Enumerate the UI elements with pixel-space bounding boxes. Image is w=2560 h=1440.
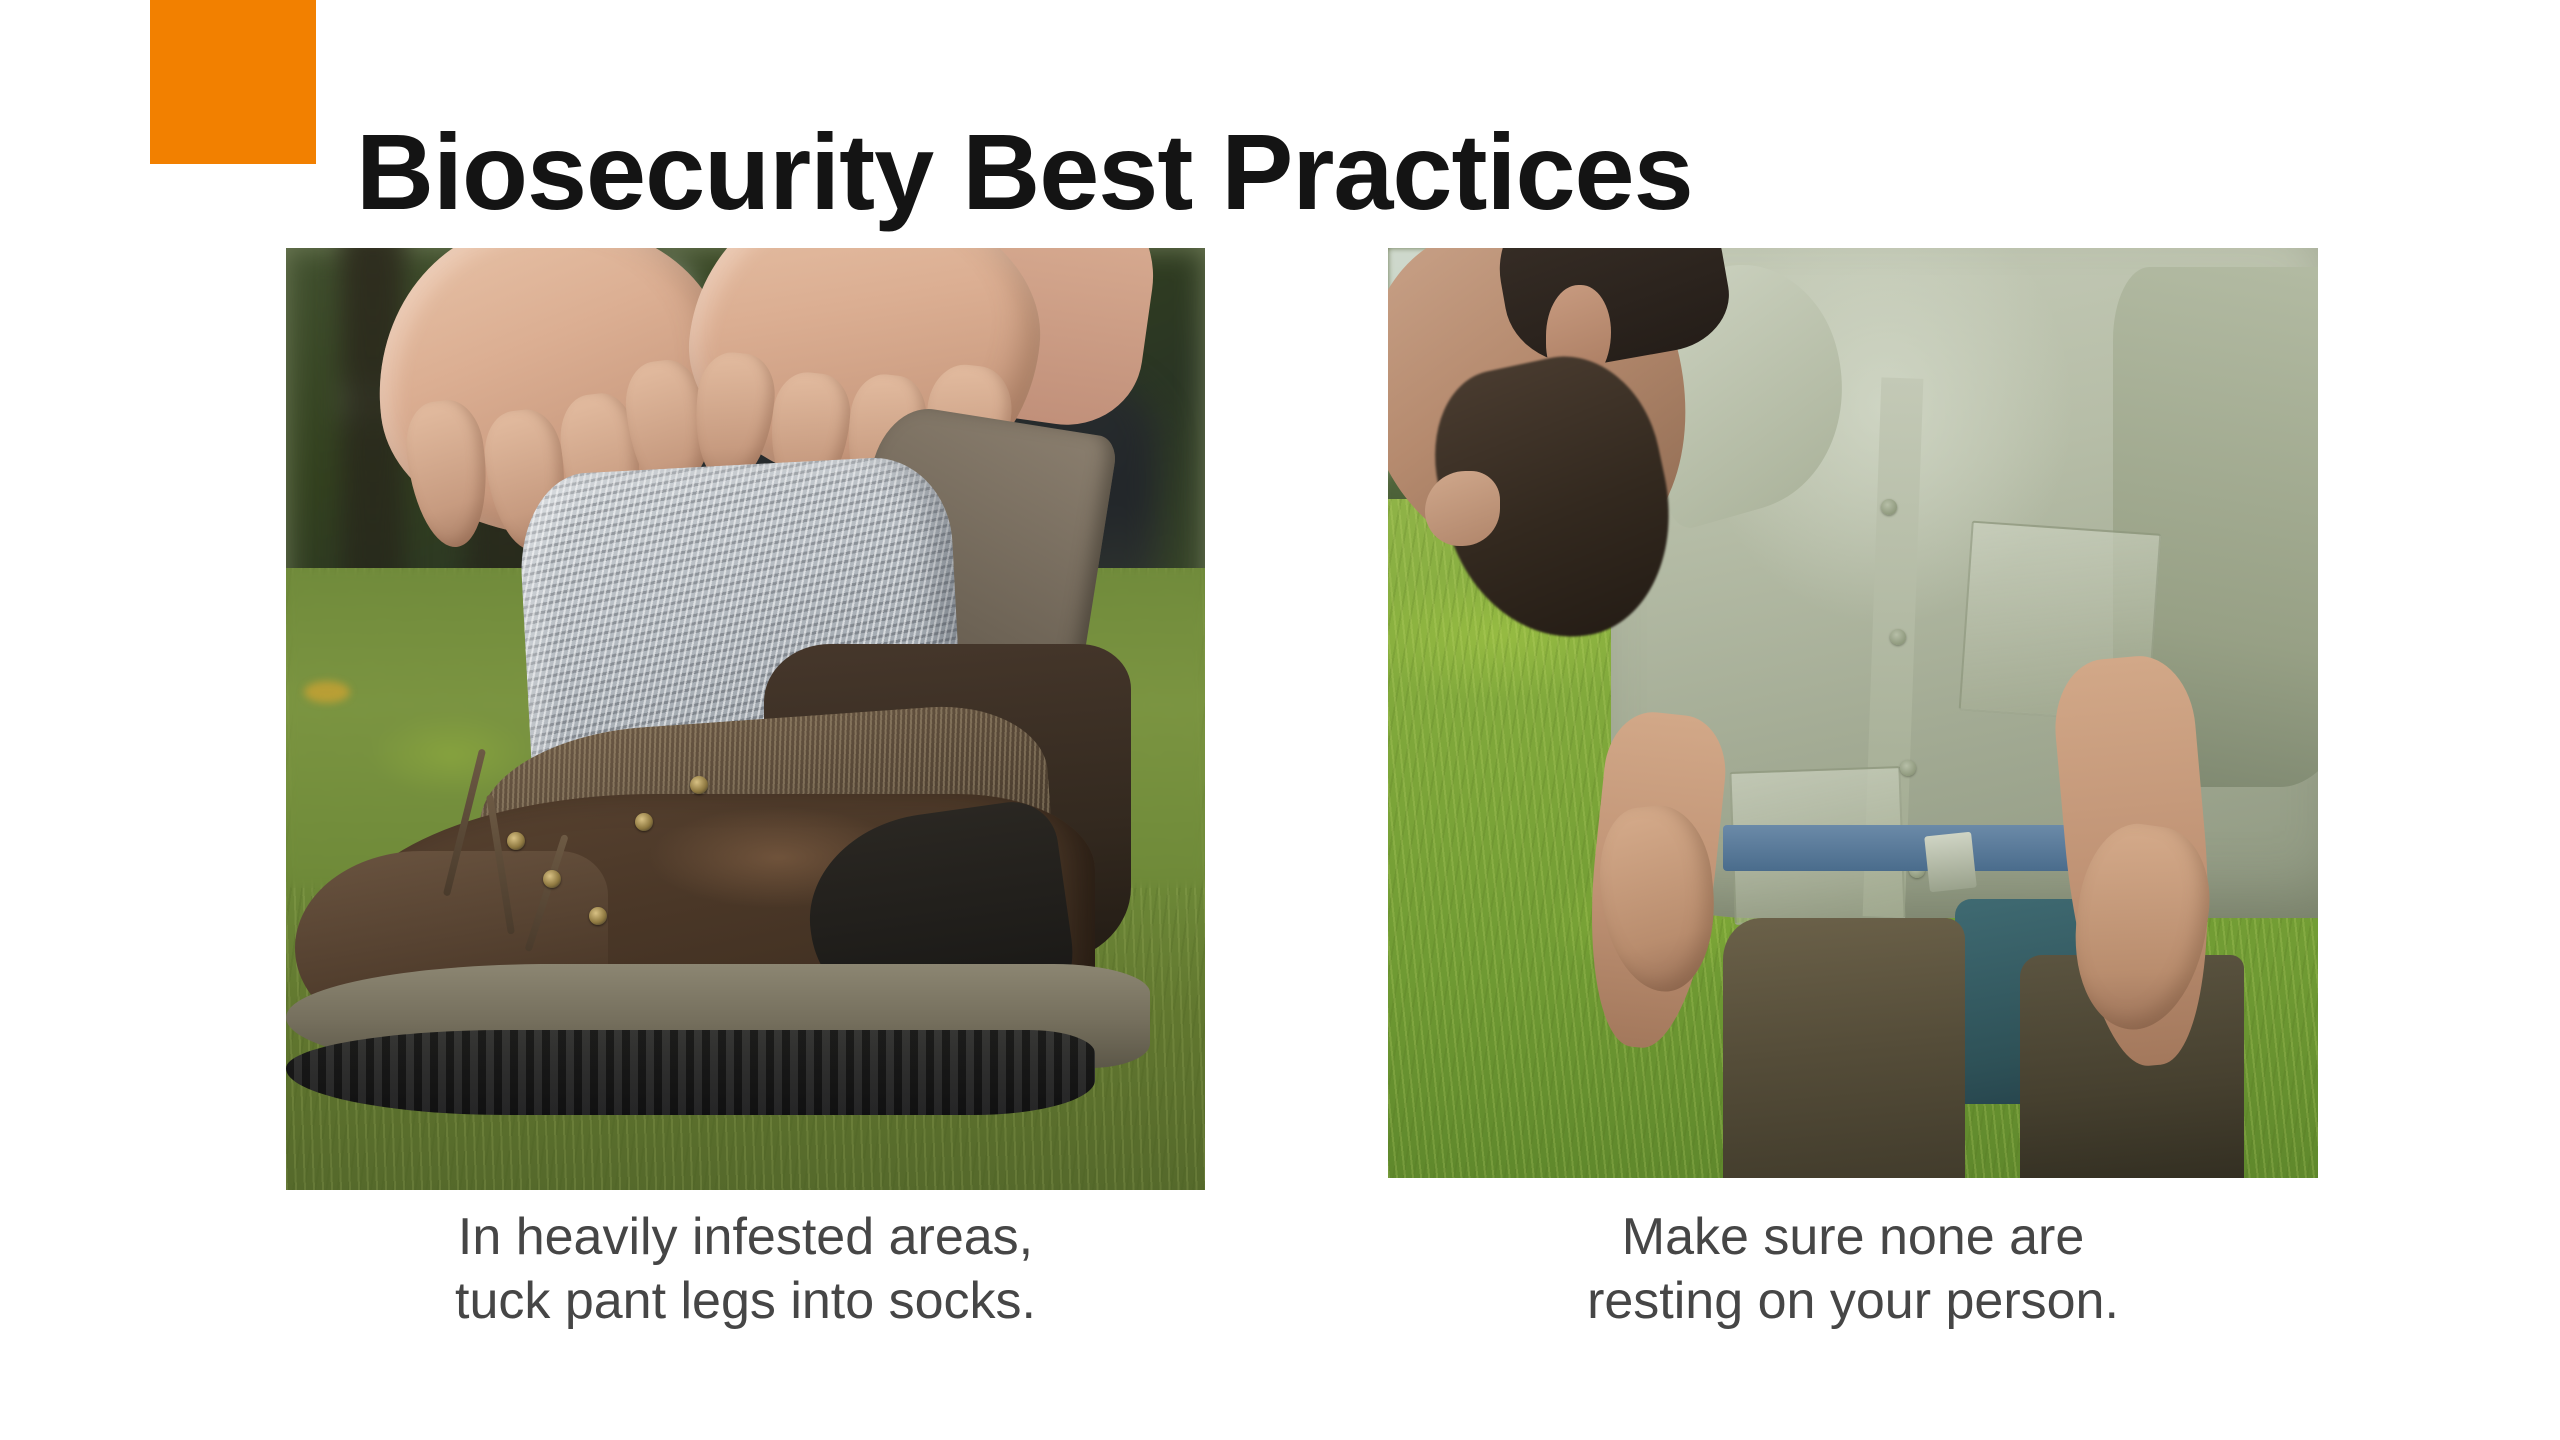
- shirt-button: [1900, 760, 1916, 776]
- slide-canvas: Biosecurity Best Practices: [0, 0, 2560, 1440]
- boot-eyelet: [543, 870, 561, 888]
- dark-trouser-leg: [1723, 918, 1965, 1178]
- boot-eyelet: [507, 832, 525, 850]
- belt-loop: [1925, 832, 1977, 892]
- boot-eyelet: [690, 776, 708, 794]
- title-accent-block: [150, 0, 316, 164]
- photo-right-scene: [1388, 248, 2318, 1178]
- shirt-button: [1881, 499, 1897, 515]
- photo-tuck-pants-into-socks: [286, 248, 1205, 1190]
- caption-right: Make sure none are resting on your perso…: [1388, 1205, 2318, 1333]
- caption-left: In heavily infested areas, tuck pant leg…: [286, 1205, 1205, 1333]
- boot-outsole: [286, 1030, 1095, 1115]
- page-title: Biosecurity Best Practices: [356, 108, 2416, 236]
- photo-check-your-person: [1388, 248, 2318, 1178]
- nose: [1425, 471, 1499, 545]
- photo-left-scene: [286, 248, 1205, 1190]
